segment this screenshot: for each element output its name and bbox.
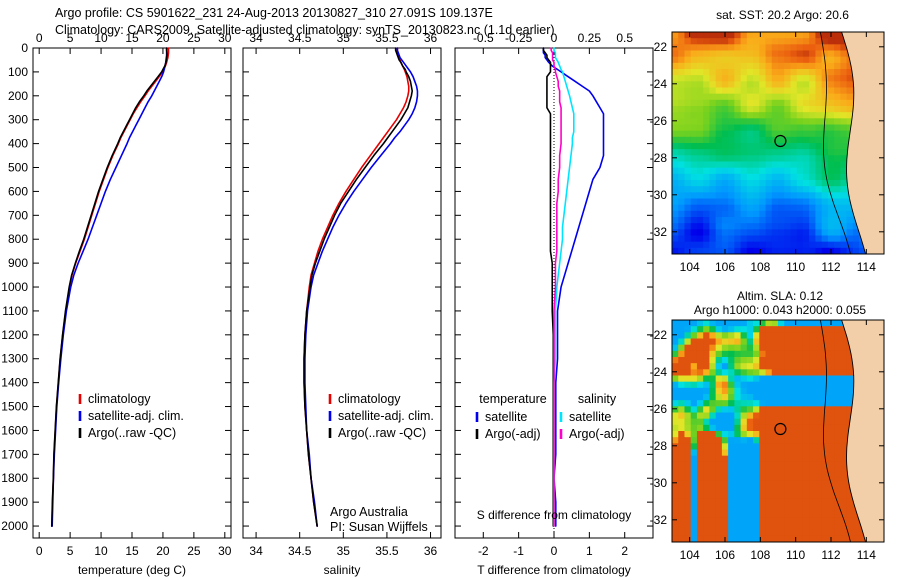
map-cell xyxy=(772,211,779,218)
map-cell xyxy=(753,400,760,407)
map-cell xyxy=(741,493,748,500)
map-cell xyxy=(697,51,704,58)
map-cell xyxy=(734,44,741,51)
map-cell xyxy=(709,394,716,401)
map-cell xyxy=(790,376,797,383)
map-cell xyxy=(809,505,816,512)
map-cell xyxy=(741,363,748,370)
map-cell xyxy=(803,400,810,407)
map-cell xyxy=(759,517,766,524)
depth-tick-label: 800 xyxy=(8,232,28,246)
map-cell xyxy=(753,413,760,420)
map-cell xyxy=(790,131,797,138)
map-cell xyxy=(766,94,773,101)
map-cell xyxy=(703,443,710,450)
map-cell xyxy=(840,94,847,101)
map-cell xyxy=(766,505,773,512)
map-cell xyxy=(691,505,698,512)
map-cell xyxy=(716,419,723,426)
map-cell xyxy=(822,223,829,230)
map-cell xyxy=(722,376,729,383)
map-cell xyxy=(728,205,735,212)
map-cell xyxy=(834,413,841,420)
map-cell xyxy=(759,505,766,512)
map-cell xyxy=(722,511,729,518)
map-cell xyxy=(697,242,704,249)
map-cell xyxy=(766,394,773,401)
map-cell xyxy=(772,217,779,224)
map-cell xyxy=(809,474,816,481)
map-cell xyxy=(772,339,779,346)
map-cell xyxy=(797,112,804,119)
map-cell xyxy=(803,394,810,401)
map-cell xyxy=(747,32,754,39)
map-cell xyxy=(840,217,847,224)
map-cell xyxy=(684,94,691,101)
map-cell xyxy=(809,400,816,407)
map-cell xyxy=(815,376,822,383)
map-cell xyxy=(759,332,766,339)
map-cell xyxy=(822,242,829,249)
map-cell xyxy=(803,517,810,524)
map-cell xyxy=(797,168,804,175)
map-cell xyxy=(766,363,773,370)
map-cell xyxy=(741,229,748,236)
map-cell xyxy=(772,487,779,494)
map-cell xyxy=(709,363,716,370)
map-cell xyxy=(728,425,735,432)
map-cell xyxy=(709,112,716,119)
map-cell xyxy=(809,326,816,333)
x-tick-label: 34.5 xyxy=(288,544,312,558)
map-cell xyxy=(766,180,773,187)
map-cell xyxy=(809,357,816,364)
map-cell xyxy=(840,487,847,494)
map-cell xyxy=(672,493,679,500)
map-cell xyxy=(691,462,698,469)
map-cell xyxy=(803,143,810,150)
map-cell xyxy=(784,339,791,346)
map-cell xyxy=(772,511,779,518)
map-cell xyxy=(815,205,822,212)
map-cell xyxy=(753,443,760,450)
map-cell xyxy=(741,400,748,407)
map-cell xyxy=(709,320,716,327)
map-cell xyxy=(697,357,704,364)
map-cell xyxy=(753,32,760,39)
map-cell xyxy=(778,236,785,243)
map-cell xyxy=(815,419,822,426)
map-cell xyxy=(809,332,816,339)
map-cell xyxy=(691,88,698,95)
map-cell xyxy=(778,382,785,389)
map-cell xyxy=(784,75,791,82)
map-cell xyxy=(697,211,704,218)
map-cell xyxy=(722,339,729,346)
map-cell xyxy=(697,517,704,524)
map-cell xyxy=(790,357,797,364)
map-cell xyxy=(822,413,829,420)
map-cell xyxy=(691,400,698,407)
map-cell xyxy=(716,468,723,475)
map-cell xyxy=(728,413,735,420)
map-cell xyxy=(722,223,729,230)
map-cell xyxy=(697,75,704,82)
map-cell xyxy=(784,351,791,358)
sla-map-field xyxy=(672,320,884,543)
map-cell xyxy=(728,419,735,426)
map-cell xyxy=(803,131,810,138)
map-cell xyxy=(741,351,748,358)
map-cell xyxy=(716,326,723,333)
map-cell xyxy=(759,388,766,395)
map-cell xyxy=(709,38,716,45)
map-cell xyxy=(753,75,760,82)
map-cell xyxy=(822,143,829,150)
map-cell xyxy=(728,143,735,150)
map-cell xyxy=(691,149,698,156)
map-cell xyxy=(753,223,760,230)
map-cell xyxy=(753,450,760,457)
map-cell xyxy=(784,499,791,506)
map-cell xyxy=(784,94,791,101)
map-cell xyxy=(734,211,741,218)
map-cell xyxy=(716,69,723,76)
map-cell xyxy=(797,63,804,70)
map-cell xyxy=(747,100,754,107)
map-cell xyxy=(784,174,791,181)
map-cell xyxy=(722,88,729,95)
map-cell xyxy=(741,168,748,175)
map-cell xyxy=(766,530,773,537)
map-cell xyxy=(691,211,698,218)
map-cell xyxy=(847,382,854,389)
map-cell xyxy=(697,236,704,243)
map-cell xyxy=(828,88,835,95)
map-cell xyxy=(684,75,691,82)
map-cell xyxy=(697,363,704,370)
map-cell xyxy=(684,394,691,401)
map-cell xyxy=(803,450,810,457)
map-cell xyxy=(753,180,760,187)
map-cell xyxy=(678,217,685,224)
map-cell xyxy=(759,38,766,45)
map-cell xyxy=(847,229,854,236)
map-cell xyxy=(684,162,691,169)
map-cell xyxy=(815,223,822,230)
map-cell xyxy=(840,419,847,426)
map-cell xyxy=(728,174,735,181)
map-cell xyxy=(716,186,723,193)
map-cell xyxy=(722,468,729,475)
map-cell xyxy=(747,44,754,51)
map-cell xyxy=(840,57,847,64)
map-cell xyxy=(790,480,797,487)
map-cell xyxy=(809,468,816,475)
map-cell xyxy=(709,413,716,420)
map-cell xyxy=(734,517,741,524)
x-tick-label: 5 xyxy=(67,544,74,558)
map-cell xyxy=(753,38,760,45)
map-cell xyxy=(722,125,729,132)
map-cell xyxy=(697,44,704,51)
map-cell xyxy=(691,468,698,475)
map-cell xyxy=(734,351,741,358)
map-cell xyxy=(728,75,735,82)
map-cell xyxy=(672,462,679,469)
lon-tick-label: 106 xyxy=(715,548,735,562)
map-cell xyxy=(766,499,773,506)
map-cell xyxy=(734,205,741,212)
map-cell xyxy=(753,217,760,224)
map-cell xyxy=(703,487,710,494)
map-cell xyxy=(697,199,704,206)
map-cell xyxy=(734,155,741,162)
map-cell xyxy=(797,425,804,432)
map-cell xyxy=(716,474,723,481)
map-cell xyxy=(809,205,816,212)
map-cell xyxy=(766,223,773,230)
map-cell xyxy=(772,480,779,487)
map-cell xyxy=(678,155,685,162)
map-cell xyxy=(672,394,679,401)
map-cell xyxy=(678,474,685,481)
map-cell xyxy=(716,357,723,364)
map-cell xyxy=(840,443,847,450)
map-cell xyxy=(741,186,748,193)
map-cell xyxy=(790,517,797,524)
map-cell xyxy=(678,530,685,537)
map-cell xyxy=(803,406,810,413)
map-cell xyxy=(716,168,723,175)
argo-profile-figure: Argo profile: CS 5901622_231 24-Aug-2013… xyxy=(0,0,900,580)
map-cell xyxy=(703,437,710,444)
map-cell xyxy=(728,505,735,512)
map-cell xyxy=(753,199,760,206)
map-cell xyxy=(815,174,822,181)
map-cell xyxy=(822,186,829,193)
map-cell xyxy=(753,406,760,413)
map-cell xyxy=(716,236,723,243)
map-cell xyxy=(709,149,716,156)
map-cell xyxy=(691,345,698,352)
map-cell xyxy=(790,168,797,175)
map-cell xyxy=(790,229,797,236)
map-cell xyxy=(759,75,766,82)
map-cell xyxy=(759,339,766,346)
map-cell xyxy=(834,94,841,101)
map-cell xyxy=(834,242,841,249)
map-cell xyxy=(766,487,773,494)
map-cell xyxy=(709,480,716,487)
map-cell xyxy=(809,493,816,500)
map-cell xyxy=(728,517,735,524)
map-cell xyxy=(716,388,723,395)
map-cell xyxy=(753,88,760,95)
map-cell xyxy=(697,474,704,481)
map-cell xyxy=(828,437,835,444)
map-cell xyxy=(753,437,760,444)
map-cell xyxy=(741,474,748,481)
map-cell xyxy=(753,511,760,518)
map-cell xyxy=(716,332,723,339)
map-cell xyxy=(697,511,704,518)
map-cell xyxy=(797,382,804,389)
map-cell xyxy=(759,180,766,187)
map-cell xyxy=(759,143,766,150)
map-cell xyxy=(678,69,685,76)
map-cell xyxy=(809,413,816,420)
map-cell xyxy=(678,437,685,444)
map-cell xyxy=(778,63,785,70)
map-cell xyxy=(691,186,698,193)
map-cell xyxy=(678,32,685,39)
map-cell xyxy=(778,118,785,125)
map-cell xyxy=(753,376,760,383)
map-cell xyxy=(778,363,785,370)
map-cell xyxy=(709,229,716,236)
map-cell xyxy=(672,217,679,224)
map-cell xyxy=(759,450,766,457)
map-cell xyxy=(847,511,854,518)
map-cell xyxy=(753,357,760,364)
map-cell xyxy=(734,57,741,64)
map-cell xyxy=(684,332,691,339)
map-cell xyxy=(834,388,841,395)
map-cell xyxy=(790,394,797,401)
map-cell xyxy=(716,499,723,506)
map-cell xyxy=(747,339,754,346)
map-cell xyxy=(716,143,723,150)
map-cell xyxy=(797,357,804,364)
map-cell xyxy=(716,131,723,138)
map-cell xyxy=(803,425,810,432)
map-cell xyxy=(703,32,710,39)
map-cell xyxy=(722,524,729,531)
map-cell xyxy=(672,100,679,107)
map-cell xyxy=(815,229,822,236)
map-cell xyxy=(759,223,766,230)
map-cell xyxy=(684,326,691,333)
map-cell xyxy=(678,223,685,230)
lon-tick-label: 114 xyxy=(857,548,876,562)
map-cell xyxy=(734,32,741,39)
x-tick-label: 2 xyxy=(621,544,628,558)
map-cell xyxy=(709,205,716,212)
map-cell xyxy=(809,363,816,370)
map-cell xyxy=(778,199,785,206)
map-cell xyxy=(784,487,791,494)
map-cell xyxy=(753,369,760,376)
map-cell xyxy=(766,199,773,206)
map-cell xyxy=(747,530,754,537)
map-cell xyxy=(766,186,773,193)
map-cell xyxy=(828,394,835,401)
map-cell xyxy=(822,51,829,58)
map-cell xyxy=(709,155,716,162)
map-cell xyxy=(778,456,785,463)
map-cell xyxy=(709,211,716,218)
map-cell xyxy=(759,468,766,475)
map-cell xyxy=(728,406,735,413)
map-cell xyxy=(790,223,797,230)
map-cell xyxy=(772,357,779,364)
map-cell xyxy=(759,480,766,487)
map-cell xyxy=(803,456,810,463)
map-cell xyxy=(722,75,729,82)
map-cell xyxy=(840,499,847,506)
map-cell xyxy=(828,205,835,212)
map-cell xyxy=(741,425,748,432)
map-cell xyxy=(797,205,804,212)
map-cell xyxy=(828,131,835,138)
map-cell xyxy=(734,443,741,450)
map-cell xyxy=(691,326,698,333)
map-cell xyxy=(803,242,810,249)
map-cell xyxy=(790,69,797,76)
map-cell xyxy=(753,186,760,193)
map-cell xyxy=(753,480,760,487)
map-cell xyxy=(766,511,773,518)
map-cell xyxy=(684,63,691,70)
map-cell xyxy=(822,75,829,82)
map-cell xyxy=(803,443,810,450)
map-cell xyxy=(840,192,847,199)
map-cell xyxy=(790,217,797,224)
map-cell xyxy=(759,44,766,51)
map-cell xyxy=(741,431,748,438)
map-cell xyxy=(703,180,710,187)
map-cell xyxy=(840,75,847,82)
map-cell xyxy=(790,456,797,463)
map-cell xyxy=(703,94,710,101)
map-cell xyxy=(834,345,841,352)
map-cell xyxy=(766,425,773,432)
map-cell xyxy=(784,242,791,249)
temperature-axis-label: temperature (deg C) xyxy=(78,563,186,577)
map-cell xyxy=(722,493,729,500)
map-cell xyxy=(759,413,766,420)
map-cell xyxy=(797,431,804,438)
map-cell xyxy=(747,38,754,45)
map-cell xyxy=(728,462,735,469)
map-cell xyxy=(797,369,804,376)
lon-tick-label: 114 xyxy=(857,260,876,274)
map-cell xyxy=(722,388,729,395)
map-cell xyxy=(703,332,710,339)
map-cell xyxy=(734,419,741,426)
map-cell xyxy=(691,524,698,531)
lat-tick-label: -30 xyxy=(650,476,668,490)
map-cell xyxy=(753,530,760,537)
depth-tick-label: 1600 xyxy=(1,423,28,437)
map-cell xyxy=(678,487,685,494)
map-cell xyxy=(691,205,698,212)
map-cell xyxy=(778,162,785,169)
map-cell xyxy=(741,57,748,64)
map-cell xyxy=(716,242,723,249)
map-cell xyxy=(709,345,716,352)
map-cell xyxy=(734,192,741,199)
map-cell xyxy=(684,186,691,193)
map-cell xyxy=(834,437,841,444)
map-cell xyxy=(815,155,822,162)
map-cell xyxy=(797,400,804,407)
lat-tick-label: -32 xyxy=(650,513,668,527)
map-cell xyxy=(716,94,723,101)
map-cell xyxy=(809,192,816,199)
map-cell xyxy=(803,88,810,95)
